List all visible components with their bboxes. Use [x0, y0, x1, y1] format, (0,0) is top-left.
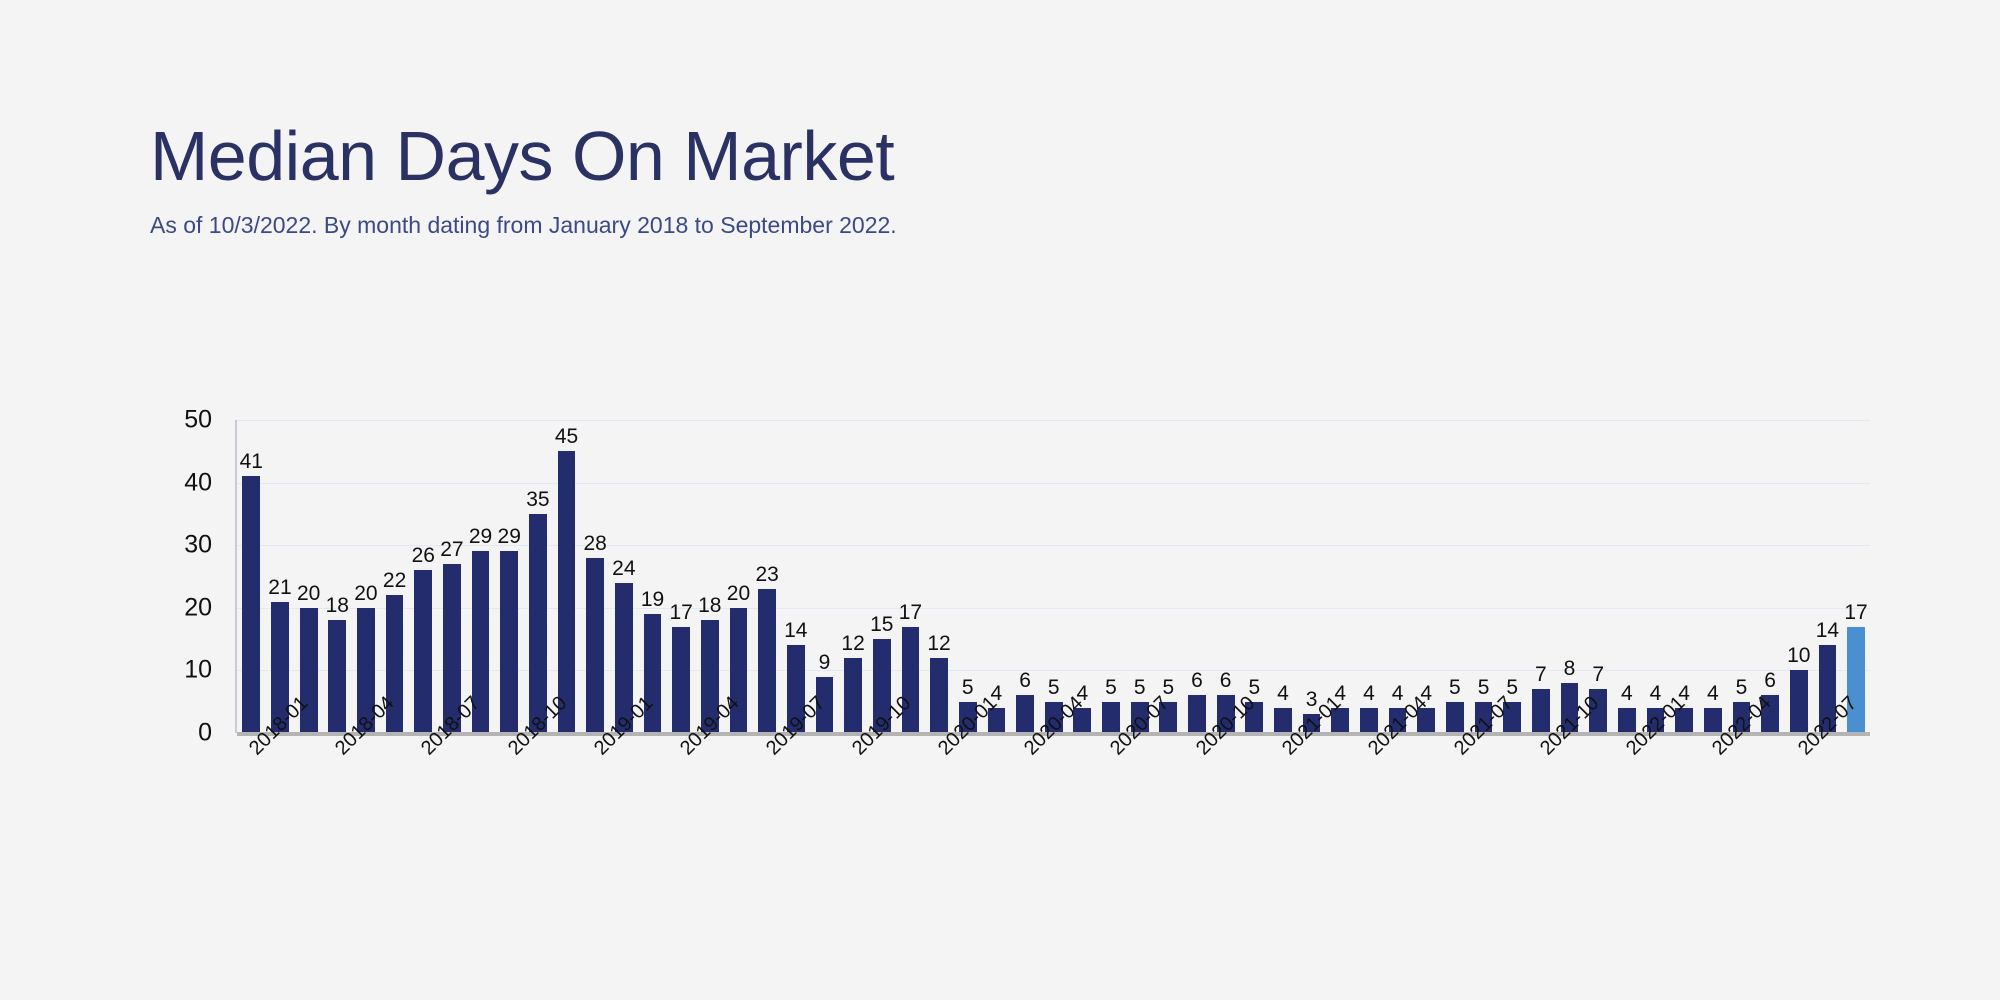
bar-slot: 12 [839, 420, 868, 733]
bar-slot: 4 [1068, 420, 1097, 733]
bar[interactable]: 29 [500, 551, 518, 733]
bar-value-label: 20 [727, 583, 750, 604]
x-slot [1153, 738, 1182, 878]
bar-slot: 24 [610, 420, 639, 733]
bar-slot: 26 [409, 420, 438, 733]
bar-value-label: 17 [669, 602, 692, 623]
bar-slot: 6 [1183, 420, 1212, 733]
bar[interactable]: 7 [1532, 689, 1550, 733]
bar-slot: 5 [1441, 420, 1470, 733]
bar-slot: 20 [294, 420, 323, 733]
bar-slot: 5 [1097, 420, 1126, 733]
bar-slot: 4 [1326, 420, 1355, 733]
x-slot [522, 738, 551, 878]
x-slot [264, 738, 293, 878]
bar[interactable]: 6 [1016, 695, 1034, 733]
bar-value-label: 12 [841, 633, 864, 654]
bar[interactable]: 35 [529, 514, 547, 733]
x-slot [436, 738, 465, 878]
bar-slot: 5 [1498, 420, 1527, 733]
bar-value-label: 4 [1707, 683, 1719, 704]
bar-slot: 4 [1383, 420, 1412, 733]
bar-slot: 27 [438, 420, 467, 733]
x-slot [694, 738, 723, 878]
y-axis-tick: 40 [184, 470, 212, 495]
bar-value-label: 14 [1816, 620, 1839, 641]
bar-slot: 5 [1125, 420, 1154, 733]
bar[interactable]: 6 [1188, 695, 1206, 733]
bar-slot: 22 [380, 420, 409, 733]
x-slot [1239, 738, 1268, 878]
bar-value-label: 5 [1048, 677, 1060, 698]
bar[interactable]: 17 [672, 627, 690, 733]
x-slot [1325, 738, 1354, 878]
bar-value-label: 4 [1650, 683, 1662, 704]
bar-value-label: 21 [268, 577, 291, 598]
bar-value-label: 6 [1220, 670, 1232, 691]
bar-value-label: 4 [1277, 683, 1289, 704]
bar-slot: 5 [1039, 420, 1068, 733]
bar-value-label: 6 [1191, 670, 1203, 691]
bar-slot: 5 [1240, 420, 1269, 733]
bar-slot: 29 [495, 420, 524, 733]
bar-value-label: 41 [240, 451, 263, 472]
y-axis: 01020304050 [150, 420, 220, 733]
bar-value-label: 26 [412, 545, 435, 566]
x-slot: 2020-04 [1010, 738, 1039, 878]
bar-value-label: 12 [927, 633, 950, 654]
bar[interactable]: 4 [1618, 708, 1636, 733]
x-slot [780, 738, 809, 878]
x-slot: 2021-01 [1268, 738, 1297, 878]
bar-slot: 5 [1469, 420, 1498, 733]
bar-value-label: 20 [354, 583, 377, 604]
x-slot [1210, 738, 1239, 878]
bar-slot: 3 [1297, 420, 1326, 733]
bar-slot: 20 [352, 420, 381, 733]
bar-slot: 20 [724, 420, 753, 733]
bar-slot: 7 [1527, 420, 1556, 733]
x-slot: 2021-04 [1354, 738, 1383, 878]
bar-slot: 9 [810, 420, 839, 733]
x-slot: 2020-07 [1096, 738, 1125, 878]
x-slot [1067, 738, 1096, 878]
x-slot: 2020-10 [1182, 738, 1211, 878]
bar-slot: 4 [1670, 420, 1699, 733]
bar-value-label: 5 [1105, 677, 1117, 698]
bar-value-label: 5 [1248, 677, 1260, 698]
bar-value-label: 29 [498, 526, 521, 547]
chart-header: Median Days On Market As of 10/3/2022. B… [150, 120, 1850, 239]
y-axis-tick: 10 [184, 658, 212, 683]
x-slot: 2018-01 [235, 738, 264, 878]
bar-value-label: 10 [1787, 645, 1810, 666]
x-slot: 2022-07 [1784, 738, 1813, 878]
bar[interactable]: 4 [1360, 708, 1378, 733]
bar[interactable]: 18 [328, 620, 346, 733]
bar-slot: 4 [1355, 420, 1384, 733]
bar-slot: 7 [1584, 420, 1613, 733]
x-slot [866, 738, 895, 878]
bar-chart: 01020304050 4121201820222627292935452824… [150, 420, 1870, 880]
bar[interactable]: 23 [758, 589, 776, 733]
bar-slot: 6 [1756, 420, 1785, 733]
bar-value-label: 6 [1764, 670, 1776, 691]
bar-slot: 4 [1613, 420, 1642, 733]
x-slot [608, 738, 637, 878]
bar-value-label: 5 [1449, 677, 1461, 698]
bar-slot: 5 [1727, 420, 1756, 733]
x-slot [1727, 738, 1756, 878]
x-slot [723, 738, 752, 878]
bar-value-label: 17 [899, 602, 922, 623]
bar-value-label: 45 [555, 426, 578, 447]
bar-slot: 6 [1211, 420, 1240, 733]
bar-slot: 41 [237, 420, 266, 733]
chart-page: Median Days On Market As of 10/3/2022. B… [0, 0, 2000, 1000]
x-slot: 2019-07 [751, 738, 780, 878]
bar-value-label: 29 [469, 526, 492, 547]
bar-slot: 4 [1412, 420, 1441, 733]
bar-value-label: 5 [1736, 677, 1748, 698]
y-axis-tick: 0 [198, 721, 212, 746]
bar-value-label: 22 [383, 570, 406, 591]
bar-value-label: 9 [819, 652, 831, 673]
x-slot [1669, 738, 1698, 878]
bar-slot: 29 [466, 420, 495, 733]
bar-value-label: 23 [755, 564, 778, 585]
bar-series: 4121201820222627292935452824191718202314… [237, 420, 1870, 733]
x-axis: 2018-012018-042018-072018-102019-012019-… [235, 738, 1870, 878]
bar-value-label: 4 [1392, 683, 1404, 704]
x-slot: 2022-01 [1612, 738, 1641, 878]
bar-slot: 28 [581, 420, 610, 733]
x-slot: 2018-07 [407, 738, 436, 878]
bar-value-label: 18 [698, 595, 721, 616]
y-axis-tick: 30 [184, 533, 212, 558]
y-axis-tick: 20 [184, 595, 212, 620]
x-slot: 2018-04 [321, 738, 350, 878]
x-slot [1383, 738, 1412, 878]
plot-area: 4121201820222627292935452824191718202314… [235, 420, 1870, 733]
x-slot [809, 738, 838, 878]
bar-value-label: 7 [1535, 664, 1547, 685]
bar-slot: 6 [1011, 420, 1040, 733]
bar-slot: 35 [524, 420, 553, 733]
x-slot [1296, 738, 1325, 878]
bar[interactable]: 28 [586, 558, 604, 733]
x-slot: 2022-04 [1698, 738, 1727, 878]
bar-value-label: 27 [440, 539, 463, 560]
x-slot [1469, 738, 1498, 878]
bar-value-label: 8 [1564, 658, 1576, 679]
x-slot [1755, 738, 1784, 878]
x-slot: 2020-01 [924, 738, 953, 878]
bar-slot: 18 [696, 420, 725, 733]
bar-slot: 4 [982, 420, 1011, 733]
bar-value-label: 15 [870, 614, 893, 635]
bar-value-label: 4 [1621, 683, 1633, 704]
bar-slot: 19 [638, 420, 667, 733]
x-slot: 2019-04 [665, 738, 694, 878]
bar-slot: 23 [753, 420, 782, 733]
bar-value-label: 5 [1134, 677, 1146, 698]
x-slot [1038, 738, 1067, 878]
page-title: Median Days On Market [150, 120, 1850, 194]
bar-value-label: 35 [526, 489, 549, 510]
bar-value-label: 4 [1363, 683, 1375, 704]
bar[interactable]: 4 [1704, 708, 1722, 733]
x-slot [1842, 738, 1871, 878]
bar-value-label: 19 [641, 589, 664, 610]
x-slot: 2018-10 [493, 738, 522, 878]
x-slot [1411, 738, 1440, 878]
bar-value-label: 28 [584, 533, 607, 554]
x-slot: 2021-07 [1440, 738, 1469, 878]
chart-subtitle: As of 10/3/2022. By month dating from Ja… [150, 194, 1850, 239]
bar-slot: 15 [867, 420, 896, 733]
x-slot [551, 738, 580, 878]
bar[interactable]: 41 [242, 476, 260, 733]
bar-value-label: 6 [1019, 670, 1031, 691]
x-slot [1583, 738, 1612, 878]
bar-value-label: 5 [1506, 677, 1518, 698]
bar-value-label: 20 [297, 583, 320, 604]
x-slot [465, 738, 494, 878]
x-slot [1641, 738, 1670, 878]
bar-slot: 14 [781, 420, 810, 733]
x-slot [1124, 738, 1153, 878]
bar-value-label: 5 [1162, 677, 1174, 698]
bar-slot: 4 [1698, 420, 1727, 733]
bar[interactable]: 45 [558, 451, 576, 733]
bar-value-label: 5 [962, 677, 974, 698]
x-slot: 2021-10 [1526, 738, 1555, 878]
bar-slot: 21 [266, 420, 295, 733]
x-slot [1555, 738, 1584, 878]
bar[interactable]: 5 [1446, 702, 1464, 733]
x-slot [292, 738, 321, 878]
bar-value-label: 7 [1592, 664, 1604, 685]
x-slot [1813, 738, 1842, 878]
bar[interactable]: 5 [1102, 702, 1120, 733]
bar-value-label: 14 [784, 620, 807, 641]
bar-slot: 14 [1813, 420, 1842, 733]
x-slot [350, 738, 379, 878]
bar-value-label: 17 [1844, 602, 1867, 623]
bar-slot: 17 [1842, 420, 1871, 733]
x-slot [952, 738, 981, 878]
bar[interactable]: 10 [1790, 670, 1808, 733]
bar-value-label: 5 [1478, 677, 1490, 698]
bar-slot: 8 [1555, 420, 1584, 733]
bar-slot: 45 [552, 420, 581, 733]
x-slot [981, 738, 1010, 878]
bar[interactable]: 4 [1274, 708, 1292, 733]
bar-slot: 4 [1641, 420, 1670, 733]
x-slot [1497, 738, 1526, 878]
x-slot [895, 738, 924, 878]
bar-slot: 10 [1784, 420, 1813, 733]
bar-value-label: 24 [612, 558, 635, 579]
bar[interactable]: 26 [414, 570, 432, 733]
y-axis-tick: 50 [184, 408, 212, 433]
x-slot: 2019-01 [579, 738, 608, 878]
bar-value-label: 18 [326, 595, 349, 616]
bar-slot: 17 [896, 420, 925, 733]
bar-slot: 12 [925, 420, 954, 733]
x-slot [637, 738, 666, 878]
bar-slot: 5 [1154, 420, 1183, 733]
x-slot [378, 738, 407, 878]
bar-slot: 18 [323, 420, 352, 733]
bar-slot: 4 [1269, 420, 1298, 733]
bar[interactable]: 12 [930, 658, 948, 733]
bar-slot: 17 [667, 420, 696, 733]
bar-slot: 5 [953, 420, 982, 733]
x-slot: 2019-10 [837, 738, 866, 878]
bar[interactable]: 12 [844, 658, 862, 733]
